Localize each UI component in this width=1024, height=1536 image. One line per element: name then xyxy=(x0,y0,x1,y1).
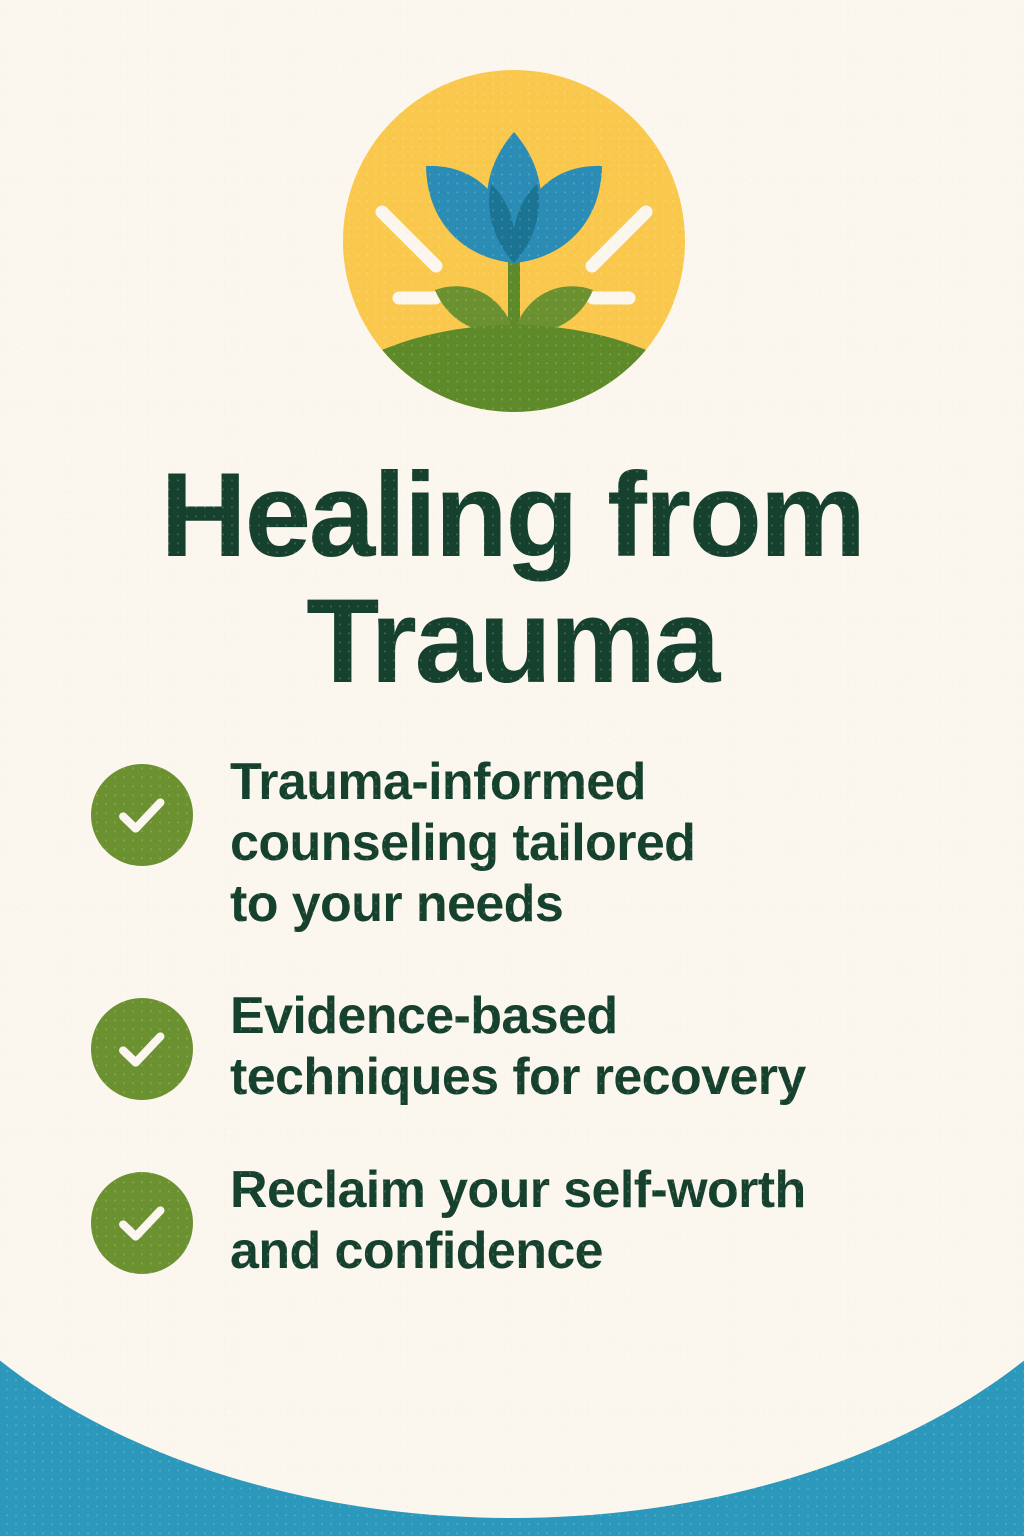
page-title: Healing from Trauma xyxy=(0,452,1024,704)
list-item: Trauma-informed counseling tailored to y… xyxy=(91,752,951,934)
list-item: Reclaim your self-worth and confidence xyxy=(91,1160,951,1282)
check-icon xyxy=(113,1194,171,1252)
check-icon xyxy=(113,1020,171,1078)
check-icon xyxy=(113,786,171,844)
check-badge xyxy=(91,1172,193,1274)
poster-canvas: Healing from Trauma Trauma-informed coun… xyxy=(0,0,1024,1536)
benefits-list: Trauma-informed counseling tailored to y… xyxy=(91,752,951,1282)
page-title-line-1: Healing from xyxy=(0,452,1024,578)
check-badge xyxy=(91,998,193,1100)
list-item-label: Evidence-based techniques for recovery xyxy=(193,986,806,1108)
growing-flower-emblem xyxy=(343,70,685,412)
check-badge xyxy=(91,764,193,866)
list-item-label: Trauma-informed counseling tailored to y… xyxy=(193,752,695,934)
list-item-label: Reclaim your self-worth and confidence xyxy=(193,1160,806,1282)
list-item: Evidence-based techniques for recovery xyxy=(91,986,951,1108)
page-title-line-2: Trauma xyxy=(0,578,1024,704)
